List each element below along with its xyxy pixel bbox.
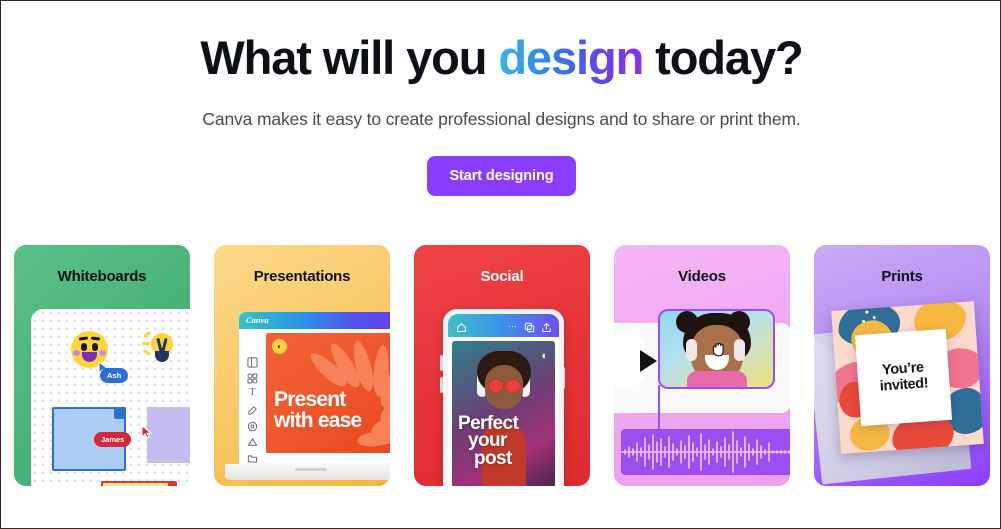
- headline-text-trailing: today?: [643, 31, 802, 84]
- card-title-social: Social: [414, 245, 590, 285]
- page-title: What will you design today?: [1, 1, 1001, 83]
- play-icon[interactable]: [640, 350, 657, 372]
- editor-sidebar: T: [239, 329, 265, 464]
- card-presentations[interactable]: Canva T: [214, 245, 390, 486]
- card-whiteboards[interactable]: Ash James Whiteboards: [14, 245, 190, 486]
- editor-top-bar: Canva: [239, 312, 390, 329]
- uploads-icon: [247, 451, 258, 462]
- invitation-text-panel: You’re invited!: [855, 329, 952, 426]
- laptop-screen: Canva T: [239, 312, 390, 464]
- slide-thumbnail: ◐ Present with ease: [266, 333, 390, 453]
- design-icon: [247, 355, 258, 366]
- collaborator-label-ash: Ash: [100, 368, 128, 383]
- canva-logo-text: Canva: [246, 315, 269, 325]
- card-videos[interactable]: Videos: [614, 245, 790, 486]
- card-title-videos: Videos: [614, 245, 790, 285]
- category-card-row: Ash James Whiteboards Canva: [14, 245, 990, 486]
- headline-accent-word: design: [498, 31, 643, 84]
- timeline-track[interactable]: [621, 481, 790, 486]
- text-icon: T: [247, 387, 258, 398]
- canva-badge-icon: ◐: [272, 339, 287, 354]
- headline-text-leading: What will you: [200, 31, 498, 84]
- copy-icon[interactable]: [524, 320, 535, 338]
- hero-section: What will you design today? Canva makes …: [1, 1, 1001, 196]
- laptop-mockup: Canva T: [225, 312, 390, 486]
- lightbulb-icon: [143, 329, 177, 367]
- card-title-whiteboards: Whiteboards: [14, 245, 190, 285]
- playhead-line: [658, 385, 660, 435]
- share-icon[interactable]: [541, 320, 552, 338]
- whiteboard-sticky-purple: [147, 407, 190, 463]
- phone-app-bar: ⋯: [448, 314, 559, 337]
- slide-headline: Present with ease: [274, 389, 361, 431]
- audio-waveform-icon: [621, 429, 790, 475]
- card-prints[interactable]: You’re invited! Prints: [814, 245, 990, 486]
- invitation-headline: You’re invited!: [878, 360, 928, 395]
- brand-icon: [247, 419, 258, 430]
- card-title-prints: Prints: [814, 245, 990, 285]
- phone-mockup: ⋯: [443, 309, 564, 486]
- social-post-photo: ◐ Perfect your post: [452, 341, 555, 486]
- phone-screen: ⋯: [448, 314, 559, 486]
- post-headline: Perfect your post: [458, 415, 518, 467]
- start-designing-button[interactable]: Start designing: [427, 156, 575, 196]
- card-social[interactable]: ⋯: [414, 245, 590, 486]
- card-title-presentations: Presentations: [214, 245, 390, 285]
- home-icon[interactable]: [456, 320, 467, 338]
- canva-homepage: What will you design today? Canva makes …: [0, 0, 1001, 529]
- elements-icon: [247, 371, 258, 382]
- hero-subtitle: Canva makes it easy to create profession…: [1, 83, 1001, 130]
- draw-icon: [247, 403, 258, 414]
- canva-watermark-icon: ◐: [541, 350, 548, 362]
- grab-cursor-icon: [711, 341, 726, 363]
- whiteboard-canvas: [31, 309, 190, 486]
- laptop-base: [225, 464, 390, 480]
- more-icon[interactable]: ⋯: [508, 323, 518, 329]
- audio-waveform[interactable]: [621, 429, 790, 475]
- cta-container: Start designing: [1, 130, 1001, 196]
- apps-icon: [247, 435, 258, 446]
- whiteboard-sticky-yellow: [101, 481, 177, 486]
- collaborator-label-james: James: [94, 432, 131, 447]
